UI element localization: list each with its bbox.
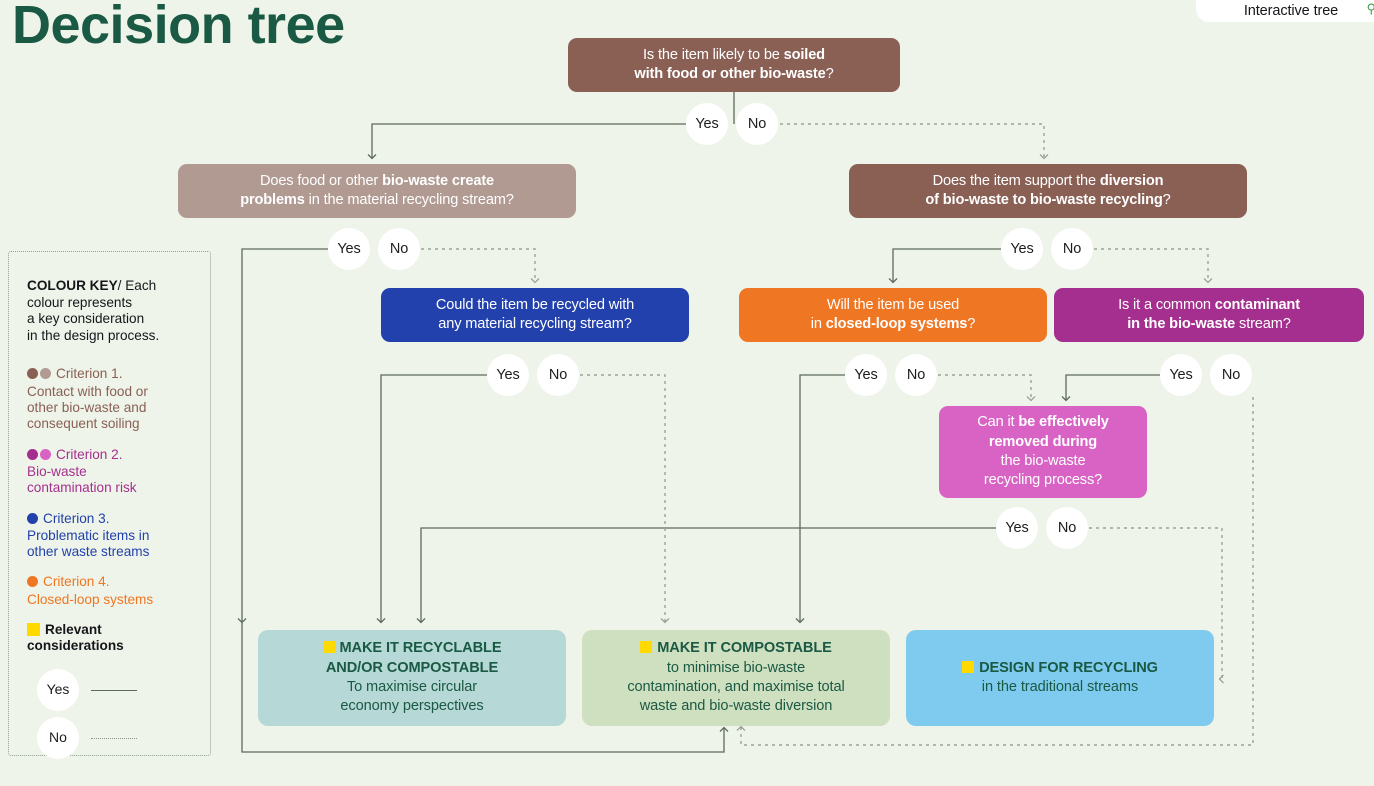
legend-criterion-2: Criterion 2. Bio-waste contamination ris… (27, 447, 196, 497)
node-right2-line2-post: ? (1163, 192, 1171, 208)
outcome-2-sub1: in the traditional streams (962, 678, 1158, 697)
branch-left2-yes[interactable]: Yes (328, 228, 370, 270)
criterion-1-desc1: Contact with food or (27, 384, 148, 399)
outcome-1-sub3: waste and bio-waste diversion (627, 697, 844, 716)
search-icon[interactable]: ⚲ (1366, 1, 1374, 17)
criterion-3-name: Criterion 3. (43, 511, 109, 526)
tab-interactive-tree-label: Interactive tree (1244, 3, 1338, 19)
node-common-contaminant[interactable]: Is it a common contaminant in the bio-wa… (1054, 288, 1364, 342)
node-left2-line1-pre: Does food or other (260, 173, 382, 189)
node-right2-line2-bold: of bio-waste to bio-waste recycling (925, 192, 1162, 208)
node-root-line2-bold: with food or other bio-waste (634, 66, 825, 82)
node-bio-waste-problems[interactable]: Does food or other bio-waste create prob… (178, 164, 576, 218)
legend-yes-line-icon (91, 690, 137, 691)
legend-line-no: No (27, 717, 196, 761)
page-title: Decision tree (12, 0, 345, 56)
outcome-0-head2: and/or COMPOSTABLE (323, 659, 502, 678)
legend-no-circle: No (37, 717, 79, 759)
criterion-4-dot-icon (27, 575, 40, 591)
colour-key-heading-rest: / Each (118, 278, 157, 293)
criterion-4-desc1: Closed-loop systems (27, 592, 153, 607)
legend-no-line-icon (91, 738, 137, 739)
node-pink-line2-bold: removed during (989, 434, 1097, 450)
outcome-1-sub2: contamination, and maximise total (627, 678, 844, 697)
node-root-line1-bold: soiled (784, 47, 825, 63)
node-magenta-line2-bold: in the bio-waste (1127, 316, 1235, 332)
branch-magenta-no[interactable]: No (1210, 354, 1252, 396)
branch-blue-no[interactable]: No (537, 354, 579, 396)
branch-orange-yes[interactable]: Yes (845, 354, 887, 396)
criterion-3-dot-icon (27, 512, 40, 528)
node-pink-line3: the bio-waste (977, 452, 1109, 471)
legend-criterion-3: Criterion 3. Problematic items in other … (27, 511, 196, 561)
branch-left2-no[interactable]: No (378, 228, 420, 270)
relevant-consideration-square-icon (323, 641, 335, 653)
branch-pink-yes[interactable]: Yes (996, 507, 1038, 549)
legend-criterion-1: Criterion 1. Contact with food or other … (27, 366, 196, 432)
node-right2-line1-bold: diversion (1100, 173, 1164, 189)
outcome-0-head: MAKE IT RECYCLABLE (340, 640, 502, 656)
branch-root-no[interactable]: No (736, 103, 778, 145)
node-magenta-line2-post: stream? (1235, 316, 1291, 332)
criterion-4-name: Criterion 4. (43, 574, 109, 589)
branch-right2-no[interactable]: No (1051, 228, 1093, 270)
node-orange-line2-bold: closed-loop systems (826, 316, 968, 332)
colour-key-intro: COLOUR KEY/ Each colour represents a key… (27, 278, 196, 344)
criterion-1-desc2: other bio-waste and (27, 400, 146, 415)
node-left2-line2-post: in the material recycling stream? (305, 192, 514, 208)
node-orange-line2-pre: in (811, 316, 826, 332)
legend-criterion-4: Criterion 4. Closed-loop systems (27, 574, 196, 608)
colour-key-intro-line4: in the design process. (27, 328, 159, 343)
colour-key-heading: COLOUR KEY (27, 278, 118, 293)
legend-relevant-considerations: Relevant considerations (27, 622, 196, 655)
outcome-0-sub2: economy perspectives (323, 697, 502, 716)
criterion-1-desc3: consequent soiling (27, 416, 140, 431)
outcome-2-head: DESIGN FOR RECYCLING (979, 660, 1158, 676)
relevant-label1: Relevant (45, 622, 102, 637)
criterion-2-name: Criterion 2. (56, 447, 122, 462)
node-pink-line1-pre: Can it (977, 414, 1018, 430)
branch-magenta-yes[interactable]: Yes (1160, 354, 1202, 396)
legend-yes-circle: Yes (37, 669, 79, 711)
outcome-make-it-recyclable[interactable]: MAKE IT RECYCLABLE and/or COMPOSTABLE To… (258, 630, 566, 726)
criterion-3-desc2: other waste streams (27, 544, 149, 559)
relevant-label2: considerations (27, 638, 124, 653)
node-blue-line2: any material recycling stream? (436, 315, 634, 334)
legend-line-yes: Yes (27, 669, 196, 713)
node-root-line1-pre: Is the item likely to be (643, 47, 784, 63)
node-root-line2-post: ? (826, 66, 834, 82)
branch-blue-yes[interactable]: Yes (487, 354, 529, 396)
tab-interactive-tree[interactable]: Interactive tree ⚲ (1196, 0, 1374, 22)
criterion-1-name: Criterion 1. (56, 366, 122, 381)
node-left2-line1-bold: bio-waste create (382, 173, 494, 189)
colour-key-intro-line2: colour represents (27, 295, 132, 310)
node-orange-line1: Will the item be used (811, 296, 975, 315)
relevant-consideration-square-icon (962, 661, 974, 673)
criterion-2-dots-icon (27, 448, 53, 464)
node-orange-line2-post: ? (967, 316, 975, 332)
relevant-consideration-square-icon (27, 623, 40, 636)
outcome-1-sub1: to minimise bio-waste (627, 659, 844, 678)
branch-pink-no[interactable]: No (1046, 507, 1088, 549)
node-right2-line1-pre: Does the item support the (933, 173, 1100, 189)
node-magenta-line1-pre: Is it a common (1118, 297, 1215, 313)
colour-key-panel: COLOUR KEY/ Each colour represents a key… (8, 251, 211, 756)
outcome-1-head: MAKE IT COMPOSTABLE (657, 640, 832, 656)
node-closed-loop[interactable]: Will the item be used in closed-loop sys… (739, 288, 1047, 342)
node-root-soiled[interactable]: Is the item likely to be soiled with foo… (568, 38, 900, 92)
colour-key-intro-line3: a key consideration (27, 311, 144, 326)
criterion-2-desc1: Bio-waste (27, 464, 87, 479)
outcome-design-for-recycling[interactable]: DESIGN FOR RECYCLING in the traditional … (906, 630, 1214, 726)
branch-right2-yes[interactable]: Yes (1001, 228, 1043, 270)
outcome-make-it-compostable[interactable]: MAKE IT COMPOSTABLE to minimise bio-wast… (582, 630, 890, 726)
branch-root-yes[interactable]: Yes (686, 103, 728, 145)
node-recycled-with-stream[interactable]: Could the item be recycled with any mate… (381, 288, 689, 342)
criterion-1-dots-icon (27, 367, 53, 383)
node-pink-line1-bold: be effectively (1018, 414, 1108, 430)
relevant-consideration-square-icon (640, 641, 652, 653)
node-effectively-removed[interactable]: Can it be effectively removed during the… (939, 406, 1147, 498)
node-left2-line2-bold: problems (240, 192, 305, 208)
branch-orange-no[interactable]: No (895, 354, 937, 396)
criterion-2-desc2: contamination risk (27, 480, 137, 495)
node-supports-diversion[interactable]: Does the item support the diversion of b… (849, 164, 1247, 218)
node-pink-line4: recycling process? (977, 471, 1109, 490)
node-blue-line1: Could the item be recycled with (436, 296, 634, 315)
node-magenta-line1-bold: contaminant (1215, 297, 1300, 313)
criterion-3-desc1: Problematic items in (27, 528, 149, 543)
outcome-0-sub1: To maximise circular (323, 678, 502, 697)
decision-tree-canvas: Decision tree Interactive tree ⚲ Is the … (0, 0, 1374, 786)
